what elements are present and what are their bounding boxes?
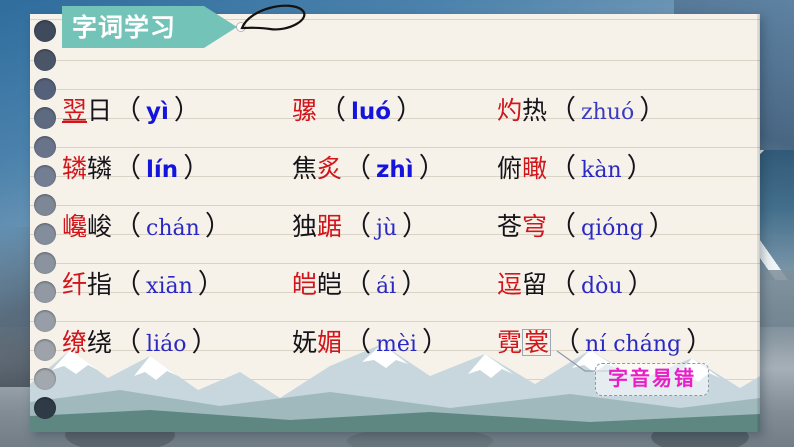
binding-hole [34,136,56,158]
word-char: 独 [292,214,317,239]
word-char: 纤 [62,272,87,297]
binding-hole [34,194,56,216]
binding-hole [34,107,56,129]
word-char: 穹 [522,214,547,239]
binding-hole [34,339,56,361]
paren-open: （ [342,213,373,240]
paren-open: （ [112,271,143,298]
slide-canvas: 字词学习 翌日 （ yì ） 骡 （ luó ） 灼热 （ zhuó ） [0,0,794,447]
word-entry[interactable]: 巉峻 （ chán ） [62,213,292,240]
word-entry[interactable]: 焦炙 （ zhì ） [292,155,497,182]
pinyin: kàn [578,160,625,182]
binding-hole [34,310,56,332]
paren-close: ） [684,329,715,356]
pinyin: liáo [143,334,189,356]
word-char: 辚 [87,156,112,181]
binding-hole [34,223,56,245]
word-row: 纤指 （ xiān ） 皑皑 （ ái ） 逗留 （ dòu ） [62,240,762,298]
word-entry[interactable]: 灼热 （ zhuó ） [497,97,762,124]
word-char: 霓 [497,330,522,355]
word-entry[interactable]: 逗留 （ dòu ） [497,271,762,298]
pinyin: xiān [143,276,196,298]
word-char: 焦 [292,156,317,181]
word-char: 留 [522,272,547,297]
word-char: 踞 [317,214,342,239]
word-char: 辚 [62,156,87,181]
word-entry[interactable]: 俯瞰 （ kàn ） [497,155,762,182]
word-char: 日 [87,98,112,123]
word-char: 瞰 [522,156,547,181]
word-entry[interactable]: 妩媚 （ mèi ） [292,329,497,356]
spiral-binding [34,20,60,425]
binding-hole [34,49,56,71]
paren-close: ） [637,97,668,124]
binding-hole [34,252,56,274]
paren-close: ） [647,213,678,240]
binding-hole [34,281,56,303]
pinyin: ái [373,276,399,298]
paren-open: （ [547,97,578,124]
pinyin: mèi [373,334,420,356]
paren-close: ） [400,213,431,240]
paren-close: ） [189,329,220,356]
word-entry[interactable]: 纤指 （ xiān ） [62,271,292,298]
word-char: 炙 [317,156,342,181]
page-title: 字词学习 [62,15,176,40]
title-tag: 字词学习 [62,6,237,48]
word-entry[interactable]: 骡 （ luó ） [292,97,497,124]
word-entry-nichang[interactable]: 霓裳 （ ní cháng ） 字音易错 [497,329,762,356]
word-entry[interactable]: 缭绕 （ liáo ） [62,329,292,356]
word-char: 逗 [497,272,522,297]
word-char: 灼 [497,98,522,123]
paren-close: ） [399,271,430,298]
binding-hole [34,397,56,419]
paren-open: （ [547,213,578,240]
pinyin: qióng [578,218,647,240]
paren-open: （ [112,329,143,356]
word-char: 峻 [87,214,112,239]
word-char: 媚 [317,330,342,355]
callout-box[interactable]: 字音易错 [595,363,709,396]
paren-close: ） [196,271,227,298]
word-list: 翌日 （ yì ） 骡 （ luó ） 灼热 （ zhuó ） 辚辚 （ [62,66,762,356]
pinyin: luó [348,101,394,124]
paren-close: ） [181,155,212,182]
word-char: 俯 [497,156,522,181]
paren-close: ） [626,271,657,298]
word-char: 翌 [62,98,87,123]
paren-close: ） [172,97,203,124]
binding-hole [34,165,56,187]
word-row: 翌日 （ yì ） 骡 （ luó ） 灼热 （ zhuó ） [62,66,762,124]
paren-open: （ [317,97,348,124]
paren-open: （ [112,97,143,124]
word-char: 巉 [62,214,87,239]
pinyin: zhì [373,159,417,182]
paren-close: ） [394,97,425,124]
pinyin: zhuó [578,102,637,124]
paren-open: （ [547,155,578,182]
word-row: 巉峻 （ chán ） 独踞 （ jù ） 苍穹 （ qióng ） [62,182,762,240]
callout-label: 字音易错 [608,366,696,390]
paren-open: （ [342,271,373,298]
pinyin: yì [143,101,172,124]
word-char: 缭 [62,330,87,355]
word-char: 皑 [317,272,342,297]
paren-close: ） [420,329,451,356]
paren-close: ） [203,213,234,240]
pinyin: lín [143,159,181,182]
paren-open: （ [342,155,373,182]
paren-open: （ [547,271,578,298]
pinyin: jù [373,218,400,240]
paren-open: （ [112,213,143,240]
word-row: 辚辚 （ lín ） 焦炙 （ zhì ） 俯瞰 （ kàn ） [62,124,762,182]
word-char: 苍 [497,214,522,239]
paren-open: （ [342,329,373,356]
word-entry[interactable]: 翌日 （ yì ） [62,97,292,124]
pinyin: dòu [578,276,626,298]
word-char: 妩 [292,330,317,355]
paren-close: ） [417,155,448,182]
word-char-boxed[interactable]: 裳 [522,329,551,356]
tag-string-icon [228,2,310,40]
word-char: 指 [87,272,112,297]
binding-hole [34,368,56,390]
binding-hole [34,20,56,42]
word-entry[interactable]: 苍穹 （ qióng ） [497,213,762,240]
word-char: 热 [522,98,547,123]
word-entry[interactable]: 辚辚 （ lín ） [62,155,292,182]
pinyin: chán [143,218,203,240]
word-char: 绕 [87,330,112,355]
word-char: 骡 [292,98,317,123]
binding-hole [34,78,56,100]
word-entry[interactable]: 皑皑 （ ái ） [292,271,497,298]
word-entry[interactable]: 独踞 （ jù ） [292,213,497,240]
word-row: 缭绕 （ liáo ） 妩媚 （ mèi ） 霓裳 （ ní cháng ） [62,298,762,356]
word-char: 皑 [292,272,317,297]
paren-close: ） [625,155,656,182]
paren-open: （ [112,155,143,182]
